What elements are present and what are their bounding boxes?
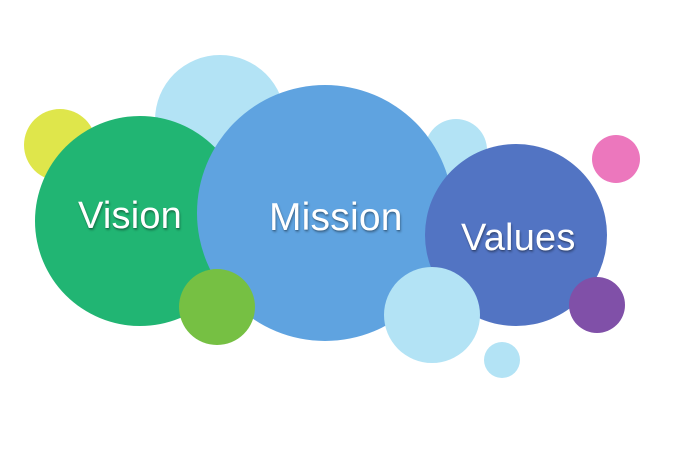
accent-pink-circle — [592, 135, 640, 183]
accent-leaf-green-circle — [179, 269, 255, 345]
accent-light-blue-small-circle — [484, 342, 520, 378]
accent-light-blue-bottom-circle — [384, 267, 480, 363]
bubble-diagram-canvas — [0, 0, 690, 457]
accent-purple-circle — [569, 277, 625, 333]
vision-mission-values-graphic: Vision Mission Values — [0, 0, 690, 457]
